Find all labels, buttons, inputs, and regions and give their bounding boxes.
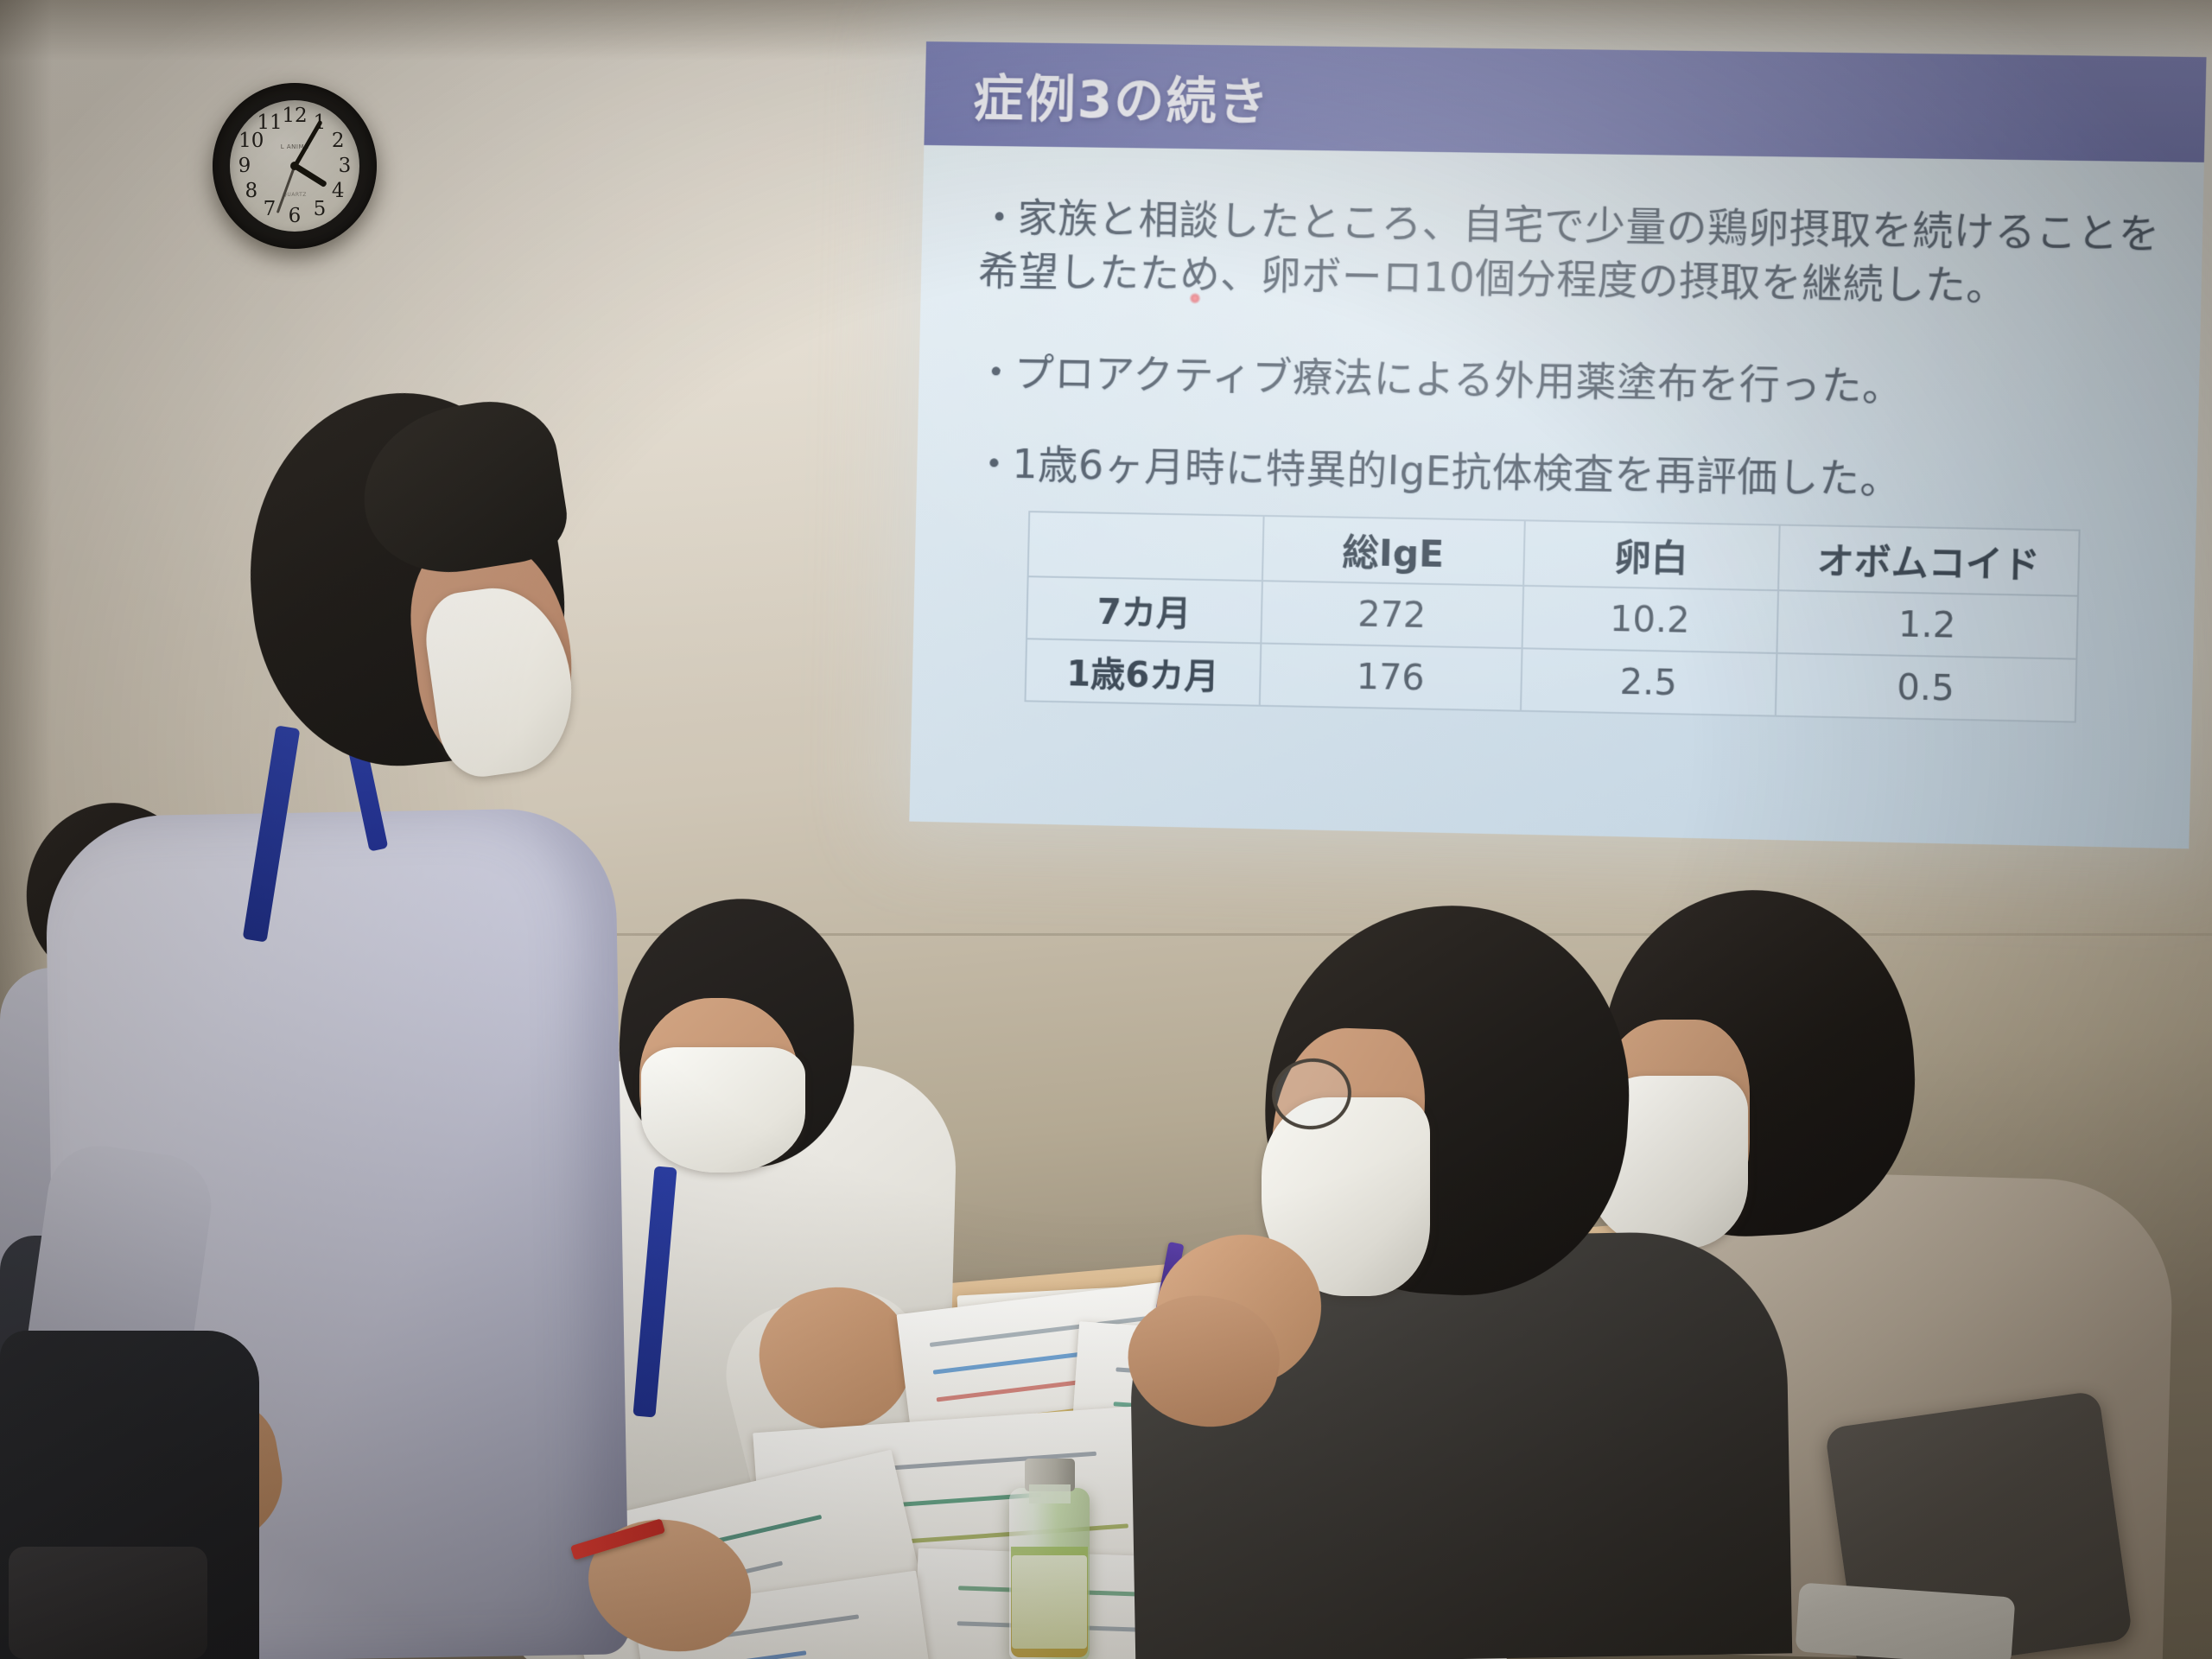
table-row-label: 7カ月 xyxy=(1027,576,1262,643)
table-cell: 0.5 xyxy=(1775,652,2076,721)
slide-body: ・家族と相談したところ、自宅で少量の鶏卵摂取を続けることを希望したため、卵ボーロ… xyxy=(909,145,2204,849)
table-cell: 176 xyxy=(1259,643,1522,710)
table-cell: 10.2 xyxy=(1522,585,1778,652)
clock-numeral: 11 xyxy=(257,110,283,136)
bullet-marker: ・ xyxy=(976,348,1014,396)
table-cell: 1.2 xyxy=(1777,590,2078,658)
slide-bullet-1: ・家族と相談したところ、自宅で少量の鶏卵摂取を続けることを希望したため、卵ボーロ… xyxy=(978,191,2168,315)
table-cell: 272 xyxy=(1261,581,1523,648)
clock-numeral: 8 xyxy=(238,178,264,204)
table-col-head-1: 総IgE xyxy=(1262,515,1524,585)
bullet-text: 1歳6ヶ月時に特異的IgE抗体検査を再評価した。 xyxy=(1012,441,1902,503)
clock-numeral: 5 xyxy=(307,196,333,222)
projected-slide: 症例3の続き ・家族と相談したところ、自宅で少量の鶏卵摂取を続けることを希望した… xyxy=(909,41,2206,849)
table-col-head-2: 卵白 xyxy=(1523,520,1779,590)
clock-brand-sub-label: QUARTZ xyxy=(283,192,307,198)
laser-pointer-dot xyxy=(1189,293,1200,304)
ige-results-table: 総IgE 卵白 オボムコイド 7カ月 272 10.2 1.2 1歳6カ月 17… xyxy=(1024,511,2080,722)
wall-corner-shadow xyxy=(0,0,52,1123)
room-photo-scene: L ANIMA QUARTZ 121234567891011 症例3の続き ・家… xyxy=(0,0,2212,1659)
table-row-label: 1歳6カ月 xyxy=(1026,639,1261,705)
wall-seam-line xyxy=(0,933,2212,936)
bullet-marker: ・ xyxy=(979,194,1018,241)
clock-numeral: 2 xyxy=(325,128,351,154)
clock-face: L ANIMA QUARTZ 121234567891011 xyxy=(230,100,359,232)
table-col-head-3: オボムコイド xyxy=(1778,524,2080,595)
clock-numeral: 3 xyxy=(332,153,358,179)
table-col-head-0 xyxy=(1028,512,1263,581)
clock-numeral: 12 xyxy=(282,103,308,129)
table-cell: 2.5 xyxy=(1521,648,1777,715)
bullet-marker: ・ xyxy=(974,440,1013,487)
bullet-text: 家族と相談したところ、自宅で少量の鶏卵摂取を続けることを希望したため、卵ボーロ1… xyxy=(978,194,2161,308)
slide-bullet-2: ・プロアクティブ療法による外用薬塗布を行った。 xyxy=(976,346,2164,418)
clock-numeral: 6 xyxy=(282,203,308,229)
clock-numeral: 9 xyxy=(232,153,257,179)
bullet-text: プロアクティブ療法による外用薬塗布を行った。 xyxy=(1014,349,1904,410)
slide-title: 症例3の続き xyxy=(973,58,1272,135)
clock-center-pin xyxy=(290,162,299,170)
slide-bullet-3: ・1歳6ヶ月時に特異的IgE抗体検査を再評価した。 xyxy=(974,437,2162,512)
slide-header-band: 症例3の続き xyxy=(924,41,2206,162)
wall-clock: L ANIMA QUARTZ 121234567891011 xyxy=(213,83,377,249)
